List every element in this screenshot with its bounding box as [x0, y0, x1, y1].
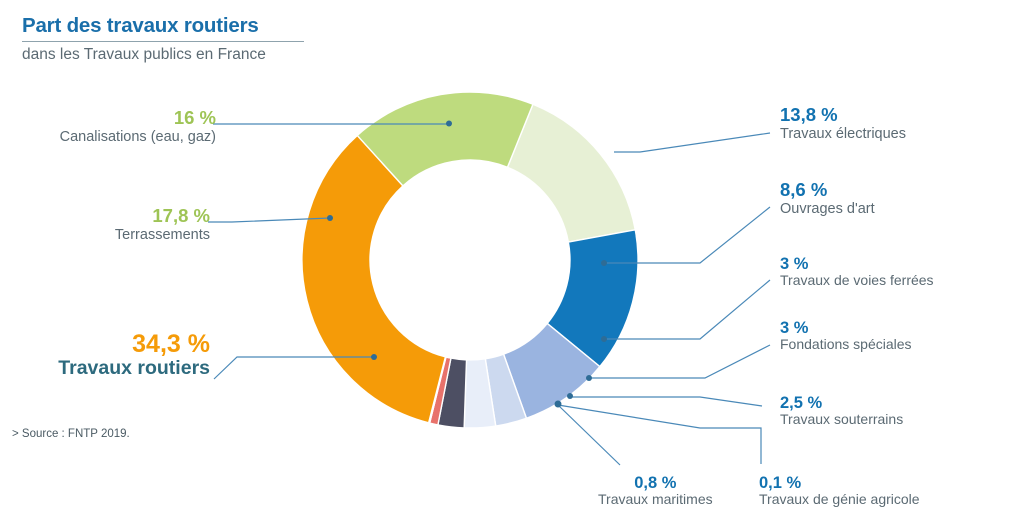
- callout-voies-ferrees-desc: Travaux de voies ferrées: [780, 273, 934, 289]
- callout-ouvrages-dart-pct: 8,6 %: [780, 180, 875, 201]
- callout-canalisations-pct: 16 %: [6, 108, 216, 129]
- callout-terrassements: 17,8 % Terrassements: [6, 206, 210, 243]
- callout-travaux-electriques-pct: 13,8 %: [780, 105, 906, 126]
- callout-travaux-maritimes: 0,8 % Travaux maritimes: [598, 474, 713, 508]
- callout-travaux-souterrains-desc: Travaux souterrains: [780, 412, 903, 428]
- callout-travaux-souterrains-pct: 2,5 %: [780, 394, 903, 412]
- callout-travaux-souterrains: 2,5 % Travaux souterrains: [780, 394, 903, 428]
- callout-travaux-routiers-pct: 34,3 %: [6, 330, 210, 358]
- callout-fondations-speciales-desc: Fondations spéciales: [780, 337, 912, 353]
- callout-genie-agricole: 0,1 % Travaux de génie agricole: [759, 474, 920, 508]
- callout-voies-ferrees-pct: 3 %: [780, 255, 934, 273]
- callout-voies-ferrees: 3 % Travaux de voies ferrées: [780, 255, 934, 289]
- callout-fondations-speciales-pct: 3 %: [780, 319, 912, 337]
- source-note: > Source : FNTP 2019.: [12, 428, 130, 440]
- callout-canalisations-desc: Canalisations (eau, gaz): [6, 129, 216, 145]
- title-underline: [22, 41, 304, 43]
- donut-chart-svg: [270, 60, 670, 460]
- donut-slices: [302, 92, 638, 428]
- donut-slice[interactable]: [507, 104, 635, 242]
- donut-slice[interactable]: [302, 135, 445, 422]
- callout-travaux-electriques-desc: Travaux électriques: [780, 126, 906, 142]
- callout-travaux-routiers-desc: Travaux routiers: [6, 358, 210, 380]
- callout-travaux-maritimes-desc: Travaux maritimes: [598, 492, 713, 508]
- callout-terrassements-pct: 17,8 %: [6, 206, 210, 227]
- page-title: Part des travaux routiers: [22, 14, 352, 38]
- callout-fondations-speciales: 3 % Fondations spéciales: [780, 319, 912, 353]
- callout-travaux-routiers: 34,3 % Travaux routiers: [6, 330, 210, 380]
- callout-travaux-electriques: 13,8 % Travaux électriques: [780, 105, 906, 142]
- callout-terrassements-desc: Terrassements: [6, 227, 210, 243]
- header: Part des travaux routiers dans les Trava…: [22, 14, 352, 65]
- callout-ouvrages-dart-desc: Ouvrages d'art: [780, 201, 875, 217]
- callout-genie-agricole-desc: Travaux de génie agricole: [759, 492, 920, 508]
- callout-ouvrages-dart: 8,6 % Ouvrages d'art: [780, 180, 875, 217]
- callout-travaux-maritimes-pct: 0,8 %: [598, 474, 713, 492]
- callout-canalisations: 16 % Canalisations (eau, gaz): [6, 108, 216, 145]
- donut-chart: [270, 60, 670, 460]
- callout-genie-agricole-pct: 0,1 %: [759, 474, 920, 492]
